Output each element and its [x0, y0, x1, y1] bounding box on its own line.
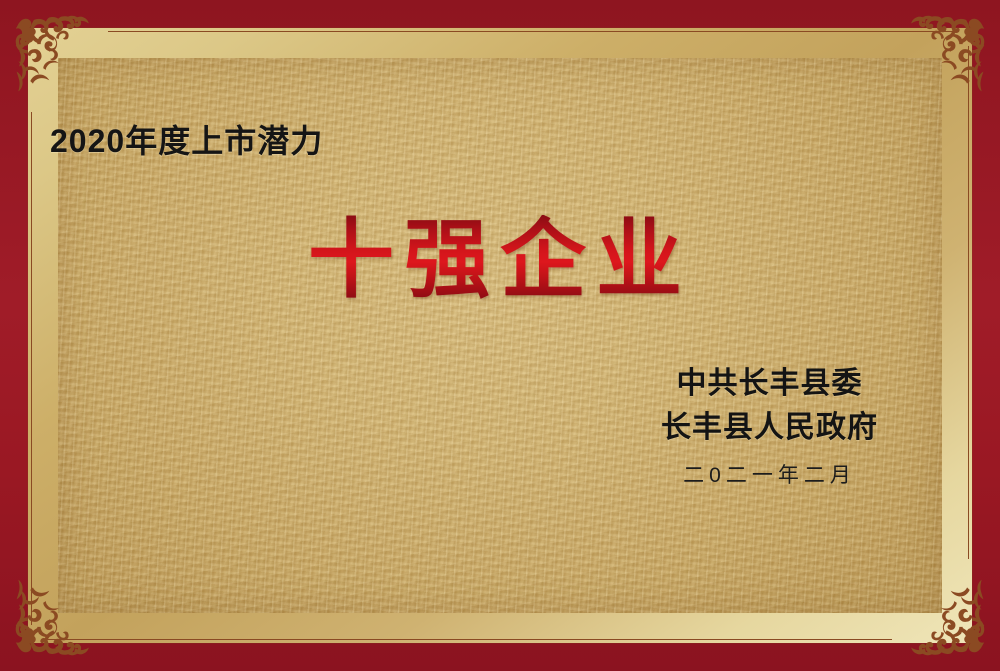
- plaque-content: 2020年度上市潜力 十强企业 中共长丰县委 长丰县人民政府 二0二一年二月: [0, 0, 1000, 671]
- issuer-line-1: 中共长丰县委: [661, 362, 878, 406]
- issuer-signature-block: 中共长丰县委 长丰县人民政府 二0二一年二月: [661, 362, 878, 489]
- issue-date: 二0二一年二月: [661, 459, 878, 489]
- award-subtitle: 2020年度上市潜力: [50, 116, 323, 162]
- issuer-line-2: 长丰县人民政府: [661, 406, 878, 450]
- award-main-title: 十强企业: [0, 215, 1000, 305]
- award-plaque: 2020年度上市潜力 十强企业 中共长丰县委 长丰县人民政府 二0二一年二月: [0, 0, 1000, 671]
